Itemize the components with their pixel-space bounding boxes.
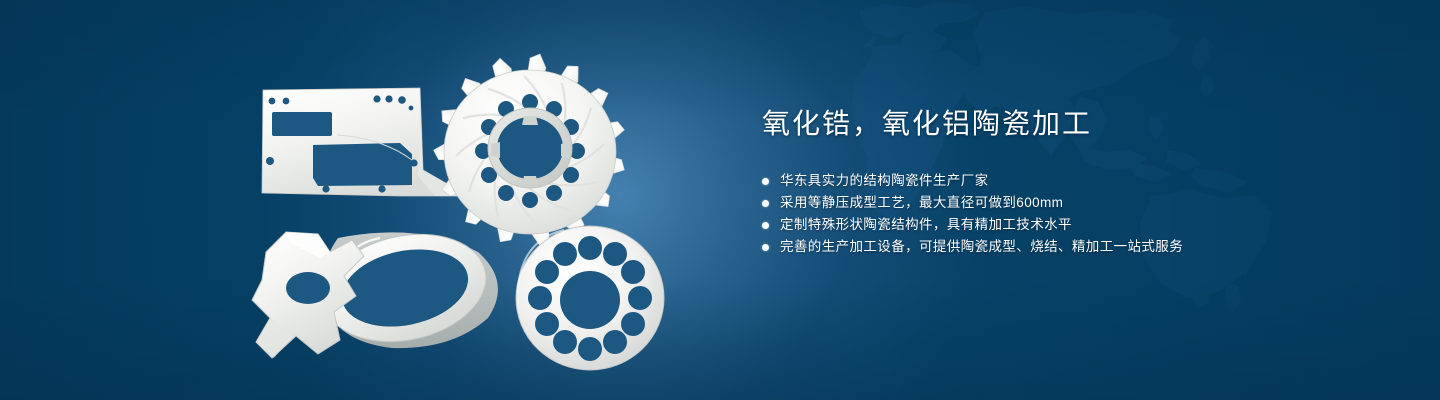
- ceramic-perforated-disc: [516, 226, 664, 370]
- list-item-label: 华东具实力的结构陶瓷件生产厂家: [780, 170, 989, 192]
- list-item: 完善的生产加工设备，可提供陶瓷成型、烧结、精加工一站式服务: [762, 236, 1382, 258]
- ceramic-cross-plate: [252, 232, 364, 358]
- page-title: 氧化锆，氧化铝陶瓷加工: [762, 104, 1382, 144]
- feature-list: 华东具实力的结构陶瓷件生产厂家 采用等静压成型工艺，最大直径可做到600mm 定…: [762, 170, 1382, 258]
- product-photo-cluster: [0, 0, 720, 400]
- bullet-dot-icon: [762, 200, 769, 207]
- bullet-dot-icon: [762, 178, 769, 185]
- list-item: 定制特殊形状陶瓷结构件，具有精加工技术水平: [762, 214, 1382, 236]
- ceramic-impeller-disc: [433, 54, 626, 247]
- list-item: 华东具实力的结构陶瓷件生产厂家: [762, 170, 1382, 192]
- list-item: 采用等静压成型工艺，最大直径可做到600mm: [762, 192, 1382, 214]
- list-item-label: 完善的生产加工设备，可提供陶瓷成型、烧结、精加工一站式服务: [780, 236, 1183, 258]
- bullet-dot-icon: [762, 244, 769, 251]
- list-item-label: 采用等静压成型工艺，最大直径可做到600mm: [780, 192, 1063, 214]
- list-item-label: 定制特殊形状陶瓷结构件，具有精加工技术水平: [780, 214, 1072, 236]
- ceramic-machined-plate: [262, 88, 470, 198]
- banner-copy: 氧化锆，氧化铝陶瓷加工 华东具实力的结构陶瓷件生产厂家 采用等静压成型工艺，最大…: [762, 104, 1382, 258]
- hero-banner: 氧化锆，氧化铝陶瓷加工 华东具实力的结构陶瓷件生产厂家 采用等静压成型工艺，最大…: [0, 0, 1440, 400]
- bullet-dot-icon: [762, 222, 769, 229]
